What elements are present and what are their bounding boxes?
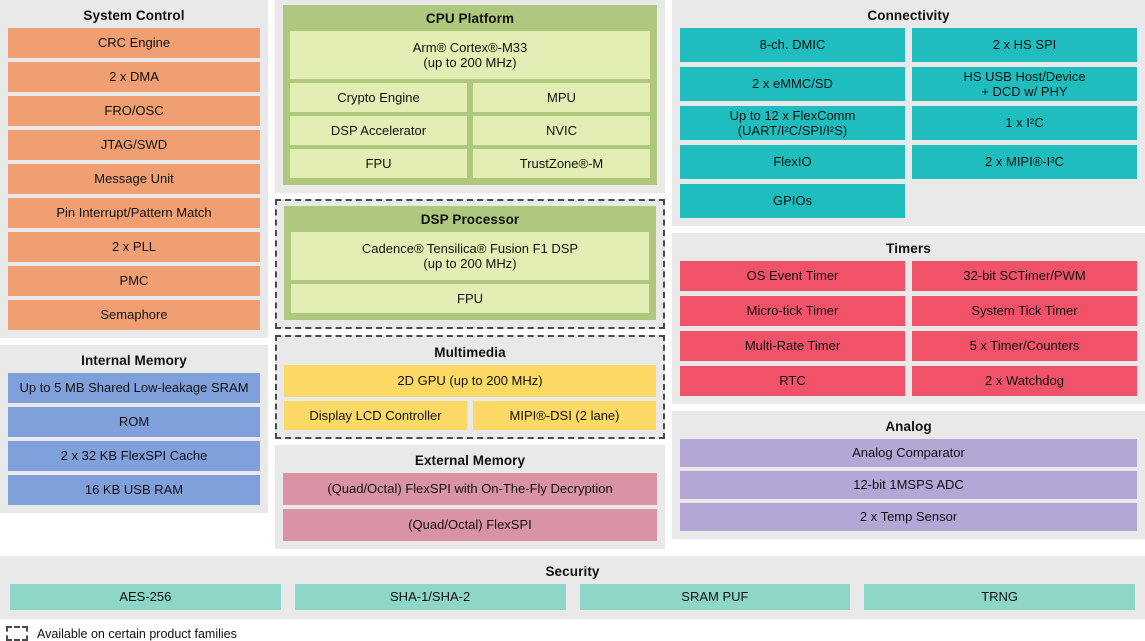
block-watchdog[interactable]: 2 x Watchdog xyxy=(912,366,1137,396)
security-grid: AES-256 SHA-1/SHA-2 SRAM PUF TRNG xyxy=(10,584,1135,610)
analog-title: Analog xyxy=(680,416,1137,439)
block-crc-engine[interactable]: CRC Engine xyxy=(8,28,260,58)
block-semaphore[interactable]: Semaphore xyxy=(8,300,260,330)
conn-label: 2 x MIPI®-I³C xyxy=(985,154,1064,169)
block-sctimer-pwm[interactable]: 32-bit SCTimer/PWM xyxy=(912,261,1137,291)
middle-column: CPU Platform Arm® Cortex®-M33 (up to 200… xyxy=(275,0,665,556)
security-panel: Security AES-256 SHA-1/SHA-2 SRAM PUF TR… xyxy=(0,556,1145,619)
internal-memory-panel: Internal Memory Up to 5 MB Shared Low-le… xyxy=(0,345,268,513)
connectivity-title: Connectivity xyxy=(680,5,1137,28)
conn-label: Up to 12 x FlexComm xyxy=(730,108,856,123)
cpu-platform-panel: CPU Platform Arm® Cortex®-M33 (up to 200… xyxy=(275,0,665,193)
block-shared-sram[interactable]: Up to 5 MB Shared Low-leakage SRAM xyxy=(8,373,260,403)
block-rtc[interactable]: RTC xyxy=(680,366,905,396)
security-title: Security xyxy=(10,561,1135,584)
dsp-processor-list: Cadence® Tensilica® Fusion F1 DSP (up to… xyxy=(291,232,649,313)
conn-label: 2 x HS SPI xyxy=(993,37,1057,52)
block-usb-ram[interactable]: 16 KB USB RAM xyxy=(8,475,260,505)
block-aes-256[interactable]: AES-256 xyxy=(10,584,281,610)
block-temp-sensor[interactable]: 2 x Temp Sensor xyxy=(680,503,1137,531)
cpu-platform-inner: CPU Platform Arm® Cortex®-M33 (up to 200… xyxy=(283,5,657,185)
conn-label: 8-ch. DMIC xyxy=(760,37,826,52)
timers-grid: OS Event Timer 32-bit SCTimer/PWM Micro-… xyxy=(680,261,1137,396)
conn-label: 2 x eMMC/SD xyxy=(752,76,833,91)
multimedia-optional-panel: Multimedia 2D GPU (up to 200 MHz) Displa… xyxy=(275,335,665,439)
block-2d-gpu[interactable]: 2D GPU (up to 200 MHz) xyxy=(284,365,656,397)
block-pin-interrupt-pattern-match[interactable]: Pin Interrupt/Pattern Match xyxy=(8,198,260,228)
block-trng[interactable]: TRNG xyxy=(864,584,1135,610)
block-timer-counters[interactable]: 5 x Timer/Counters xyxy=(912,331,1137,361)
external-memory-title: External Memory xyxy=(283,450,657,473)
timers-title: Timers xyxy=(680,238,1137,261)
dsp-core-line1: Cadence® Tensilica® Fusion F1 DSP xyxy=(362,241,578,256)
legend-text: Available on certain product families xyxy=(37,627,237,641)
block-micro-tick-timer[interactable]: Micro-tick Timer xyxy=(680,296,905,326)
block-mipi-dsi[interactable]: MIPI®-DSI (2 lane) xyxy=(473,401,656,430)
timers-panel: Timers OS Event Timer 32-bit SCTimer/PWM… xyxy=(672,233,1145,404)
external-memory-list: (Quad/Octal) FlexSPI with On-The-Fly Dec… xyxy=(283,473,657,541)
block-rom[interactable]: ROM xyxy=(8,407,260,437)
right-column: Connectivity 8-ch. DMIC 2 x HS SPI 2 x e… xyxy=(672,0,1145,546)
conn-label: HS USB Host/Device xyxy=(963,69,1085,84)
block-sram-puf[interactable]: SRAM PUF xyxy=(580,584,851,610)
dsp-processor-inner: DSP Processor Cadence® Tensilica® Fusion… xyxy=(284,206,656,320)
block-flexspi-cache[interactable]: 2 x 32 KB FlexSPI Cache xyxy=(8,441,260,471)
block-trustzone-m[interactable]: TrustZone®-M xyxy=(473,149,650,178)
block-i2c[interactable]: 1 x I²C xyxy=(912,106,1137,140)
block-nvic[interactable]: NVIC xyxy=(473,116,650,145)
multimedia-row-1: Display LCD Controller MIPI®-DSI (2 lane… xyxy=(284,401,656,430)
analog-list: Analog Comparator 12-bit 1MSPS ADC 2 x T… xyxy=(680,439,1137,531)
block-multi-rate-timer[interactable]: Multi-Rate Timer xyxy=(680,331,905,361)
block-flexspi[interactable]: (Quad/Octal) FlexSPI xyxy=(283,509,657,541)
cpu-row-1: Crypto Engine MPU xyxy=(290,83,650,112)
conn-label: FlexIO xyxy=(773,154,811,169)
block-gpios[interactable]: GPIOs xyxy=(680,184,905,218)
conn-label-2: (UART/I²C/SPI/I²S) xyxy=(738,123,848,138)
dashed-box-icon xyxy=(6,626,28,641)
block-adc[interactable]: 12-bit 1MSPS ADC xyxy=(680,471,1137,499)
block-display-lcd-controller[interactable]: Display LCD Controller xyxy=(284,401,467,430)
block-flexio[interactable]: FlexIO xyxy=(680,145,905,179)
block-diagram: System Control CRC Engine 2 x DMA FRO/OS… xyxy=(0,0,1145,636)
block-pll[interactable]: 2 x PLL xyxy=(8,232,260,262)
block-flexspi-otf-decryption[interactable]: (Quad/Octal) FlexSPI with On-The-Fly Dec… xyxy=(283,473,657,505)
cpu-platform-list: Arm® Cortex®-M33 (up to 200 MHz) Crypto … xyxy=(290,31,650,178)
dsp-processor-title: DSP Processor xyxy=(291,210,649,232)
system-control-panel: System Control CRC Engine 2 x DMA FRO/OS… xyxy=(0,0,268,338)
legend: Available on certain product families xyxy=(0,619,1145,641)
block-sha[interactable]: SHA-1/SHA-2 xyxy=(295,584,566,610)
diagram-columns: System Control CRC Engine 2 x DMA FRO/OS… xyxy=(0,0,1145,556)
cpu-core-line1: Arm® Cortex®-M33 xyxy=(413,40,528,55)
cpu-core-line2: (up to 200 MHz) xyxy=(423,55,516,70)
block-arm-cortex-m33[interactable]: Arm® Cortex®-M33 (up to 200 MHz) xyxy=(290,31,650,79)
block-dsp-accelerator[interactable]: DSP Accelerator xyxy=(290,116,467,145)
block-jtag-swd[interactable]: JTAG/SWD xyxy=(8,130,260,160)
block-system-tick-timer[interactable]: System Tick Timer xyxy=(912,296,1137,326)
conn-label: 1 x I²C xyxy=(1005,115,1043,130)
block-cadence-tensilica-fusion-f1-dsp[interactable]: Cadence® Tensilica® Fusion F1 DSP (up to… xyxy=(291,232,649,280)
block-hs-spi[interactable]: 2 x HS SPI xyxy=(912,28,1137,62)
block-pmc[interactable]: PMC xyxy=(8,266,260,296)
multimedia-title: Multimedia xyxy=(284,342,656,365)
block-analog-comparator[interactable]: Analog Comparator xyxy=(680,439,1137,467)
block-dma[interactable]: 2 x DMA xyxy=(8,62,260,92)
block-emmc-sd[interactable]: 2 x eMMC/SD xyxy=(680,67,905,101)
system-control-list: CRC Engine 2 x DMA FRO/OSC JTAG/SWD Mess… xyxy=(8,28,260,330)
block-fpu[interactable]: FPU xyxy=(290,149,467,178)
conn-label: GPIOs xyxy=(773,193,812,208)
block-fro-osc[interactable]: FRO/OSC xyxy=(8,96,260,126)
block-dmic[interactable]: 8-ch. DMIC xyxy=(680,28,905,62)
internal-memory-title: Internal Memory xyxy=(8,350,260,373)
block-hs-usb-host-device[interactable]: HS USB Host/Device + DCD w/ PHY xyxy=(912,67,1137,101)
connectivity-grid: 8-ch. DMIC 2 x HS SPI 2 x eMMC/SD HS USB… xyxy=(680,28,1137,218)
conn-label-2: + DCD w/ PHY xyxy=(981,84,1067,99)
dsp-processor-optional-panel: DSP Processor Cadence® Tensilica® Fusion… xyxy=(275,199,665,329)
multimedia-list: 2D GPU (up to 200 MHz) Display LCD Contr… xyxy=(284,365,656,430)
internal-memory-list: Up to 5 MB Shared Low-leakage SRAM ROM 2… xyxy=(8,373,260,505)
block-message-unit[interactable]: Message Unit xyxy=(8,164,260,194)
block-os-event-timer[interactable]: OS Event Timer xyxy=(680,261,905,291)
cpu-platform-title: CPU Platform xyxy=(290,9,650,31)
connectivity-panel: Connectivity 8-ch. DMIC 2 x HS SPI 2 x e… xyxy=(672,0,1145,226)
block-mpu[interactable]: MPU xyxy=(473,83,650,112)
cpu-row-3: FPU TrustZone®-M xyxy=(290,149,650,178)
block-dsp-fpu[interactable]: FPU xyxy=(291,284,649,313)
analog-panel: Analog Analog Comparator 12-bit 1MSPS AD… xyxy=(672,411,1145,539)
left-column: System Control CRC Engine 2 x DMA FRO/OS… xyxy=(0,0,268,520)
external-memory-panel: External Memory (Quad/Octal) FlexSPI wit… xyxy=(275,445,665,549)
dsp-core-line2: (up to 200 MHz) xyxy=(423,256,516,271)
block-crypto-engine[interactable]: Crypto Engine xyxy=(290,83,467,112)
system-control-title: System Control xyxy=(8,5,260,28)
block-flexcomm[interactable]: Up to 12 x FlexComm (UART/I²C/SPI/I²S) xyxy=(680,106,905,140)
cpu-row-2: DSP Accelerator NVIC xyxy=(290,116,650,145)
block-mipi-i3c[interactable]: 2 x MIPI®-I³C xyxy=(912,145,1137,179)
